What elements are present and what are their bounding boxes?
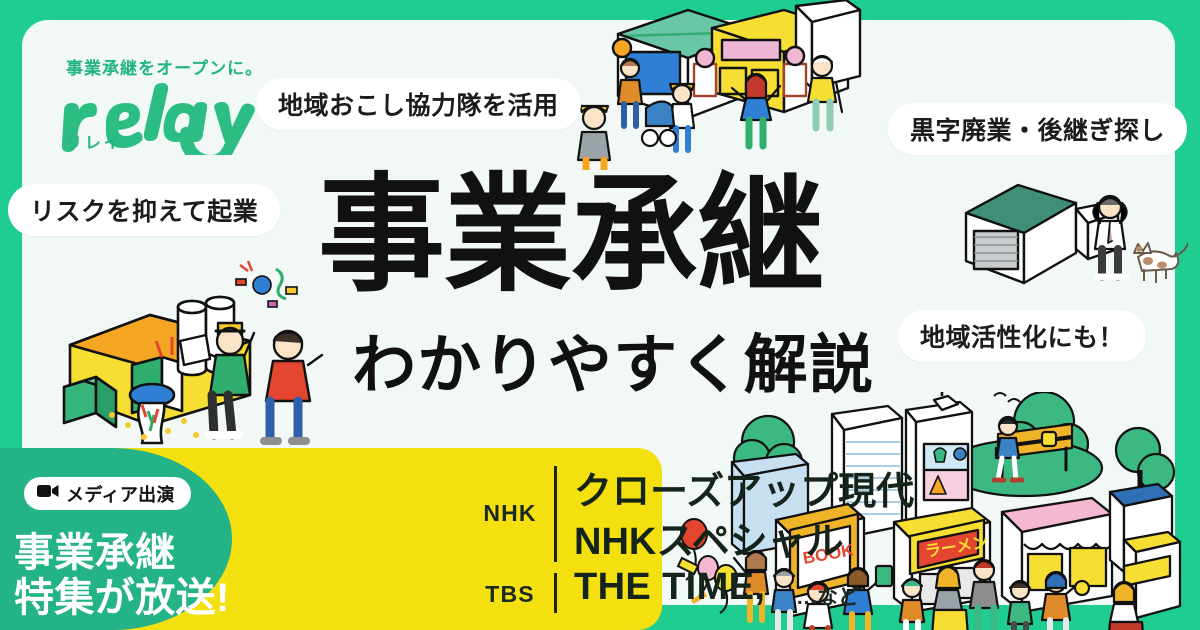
divider-nhk <box>554 466 557 562</box>
program-etc-label: …など <box>796 581 859 611</box>
illustration-warehouse-owner <box>958 165 1188 300</box>
network-name-nhk: NHK <box>472 500 548 527</box>
media-headline-line2: 特集が放送! <box>14 565 230 623</box>
poster-canvas: BOOK ラーメン <box>0 0 1200 630</box>
brand-tagline: 事業承継をオープンに。 <box>66 54 263 79</box>
illustration-factory-opening <box>40 245 340 445</box>
brand-reading: リレイ <box>66 129 123 153</box>
pill-risk-kigyo[interactable]: リスクを抑えて起業 <box>8 184 280 236</box>
media-strip: メディア出演 事業承継 特集が放送! NHK クローズアップ現代 NHKスペシャ… <box>0 448 662 630</box>
pill-label: リスクを抑えて起業 <box>30 192 258 228</box>
media-badge-label: メディア出演 <box>66 481 175 507</box>
hero-subtitle: わかりやすく解説 <box>352 333 872 397</box>
hero-title: 事業承継 <box>318 172 898 299</box>
pill-kuroji-haigyo[interactable]: 黒字廃業・後継ぎ探し <box>888 103 1187 155</box>
pill-label: 地域おこし協力隊を活用 <box>278 86 559 122</box>
program-nhk-1: クローズアップ現代 <box>574 460 914 515</box>
pill-chiiki-kasseika[interactable]: 地域活性化にも！ <box>898 310 1146 362</box>
video-camera-icon <box>37 484 59 503</box>
network-name-tbs: TBS <box>472 581 548 608</box>
pill-chiiki-okoshi[interactable]: 地域おこし協力隊を活用 <box>256 78 581 130</box>
network-list: NHK クローズアップ現代 NHKスペシャル TBS THE TIME, …など <box>236 448 662 630</box>
pill-label: 地域活性化にも！ <box>920 318 1124 354</box>
media-appearance-badge: メディア出演 <box>24 477 191 510</box>
program-nhk-2: NHKスペシャル <box>574 510 844 565</box>
divider-tbs <box>554 573 557 613</box>
illustration-shopping-street <box>560 0 880 170</box>
brand-wordmark: リレイ <box>58 83 258 155</box>
program-tbs-1: THE TIME, <box>574 566 765 609</box>
pill-label: 黒字廃業・後継ぎ探し <box>910 111 1165 147</box>
brand-logo[interactable]: 事業承継をオープンに。 リレイ <box>58 54 263 155</box>
